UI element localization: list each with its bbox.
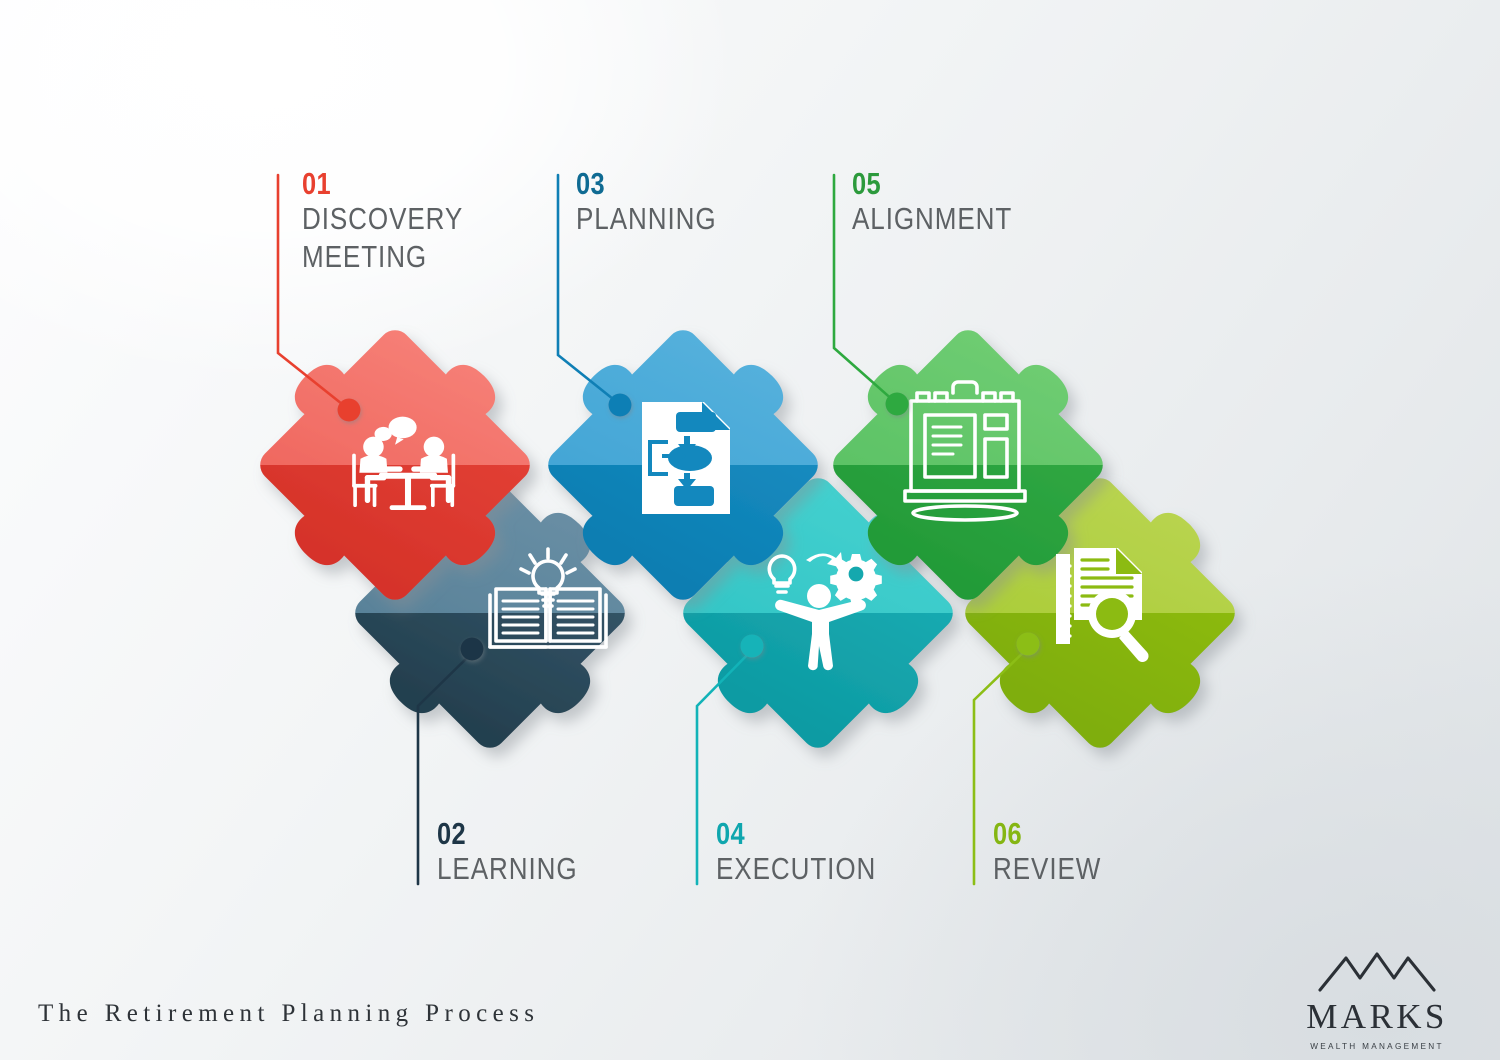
step-title: REVIEW — [993, 850, 1101, 889]
step-label-execution[interactable]: 04 EXECUTION — [716, 818, 907, 888]
step-number: 01 — [302, 168, 459, 200]
puzzle-board — [0, 0, 1500, 1060]
step-title: LEARNING — [437, 850, 578, 889]
step-label-alignment[interactable]: 05 ALIGNMENT — [852, 168, 1043, 238]
step-number: 06 — [993, 818, 1099, 850]
step-title: DISCOVERY MEETING — [302, 200, 463, 278]
brand-name: MARKS — [1306, 997, 1447, 1036]
page-title: The Retirement Planning Process — [38, 1000, 539, 1028]
step-label-review[interactable]: 06 REVIEW — [993, 818, 1122, 888]
step-title: PLANNING — [576, 200, 717, 239]
step-label-learning[interactable]: 02 LEARNING — [437, 818, 604, 888]
step-title: ALIGNMENT — [852, 200, 1012, 239]
brand-logo: MARKS WEALTH MANAGEMENT — [1292, 948, 1462, 1054]
step-title: EXECUTION — [716, 850, 876, 889]
flowchart-document-icon — [642, 402, 730, 514]
zigzag-chart-mark — [1292, 948, 1462, 999]
step-label-discovery-meeting[interactable]: 01 DISCOVERY MEETING — [302, 168, 494, 277]
step-number: 02 — [437, 818, 574, 850]
step-label-planning[interactable]: 03 PLANNING — [576, 168, 743, 238]
infographic-canvas: 01 DISCOVERY MEETING 03 PLANNING 05 ALIG… — [0, 0, 1500, 1060]
brand-tagline: WEALTH MANAGEMENT — [1310, 1042, 1444, 1051]
step-number: 05 — [852, 168, 1008, 200]
step-number: 04 — [716, 818, 872, 850]
step-number: 03 — [576, 168, 713, 200]
